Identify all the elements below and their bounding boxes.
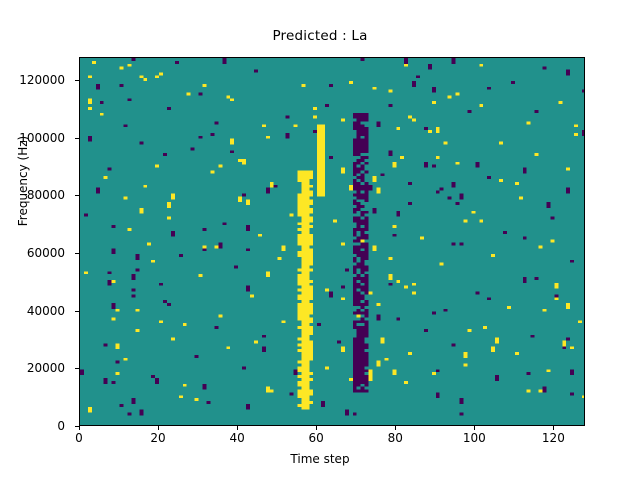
y-tick-label: 100000 (0, 131, 72, 145)
y-tick-mark (75, 138, 79, 139)
y-tick-mark (75, 195, 79, 196)
y-tick-mark (75, 80, 79, 81)
matplotlib-figure: Predicted : La 020406080100120 020000400… (0, 0, 640, 480)
x-tick-label: 120 (542, 431, 565, 445)
x-tick-mark (237, 426, 238, 430)
y-tick-label: 40000 (0, 304, 72, 318)
chart-title: Predicted : La (0, 28, 640, 44)
x-axis-label: Time step (0, 452, 640, 466)
y-tick-label: 120000 (0, 73, 72, 87)
y-tick-label: 60000 (0, 246, 72, 260)
y-axis-label: Frequency (Hz) (16, 81, 30, 281)
y-tick-mark (75, 311, 79, 312)
x-tick-mark (316, 426, 317, 430)
x-tick-label: 20 (150, 431, 165, 445)
y-tick-mark (75, 368, 79, 369)
y-tick-mark (75, 426, 79, 427)
x-tick-label: 60 (309, 431, 324, 445)
heatmap-image (80, 58, 585, 426)
x-tick-label: 80 (388, 431, 403, 445)
y-tick-label: 80000 (0, 188, 72, 202)
x-tick-label: 0 (75, 431, 83, 445)
y-tick-mark (75, 253, 79, 254)
y-tick-label: 20000 (0, 361, 72, 375)
x-tick-mark (553, 426, 554, 430)
x-tick-mark (79, 426, 80, 430)
x-tick-mark (158, 426, 159, 430)
heatmap-axes (79, 57, 585, 426)
x-tick-mark (474, 426, 475, 430)
y-tick-label: 0 (0, 419, 72, 433)
x-tick-mark (395, 426, 396, 430)
x-tick-label: 100 (463, 431, 486, 445)
x-tick-label: 40 (229, 431, 244, 445)
